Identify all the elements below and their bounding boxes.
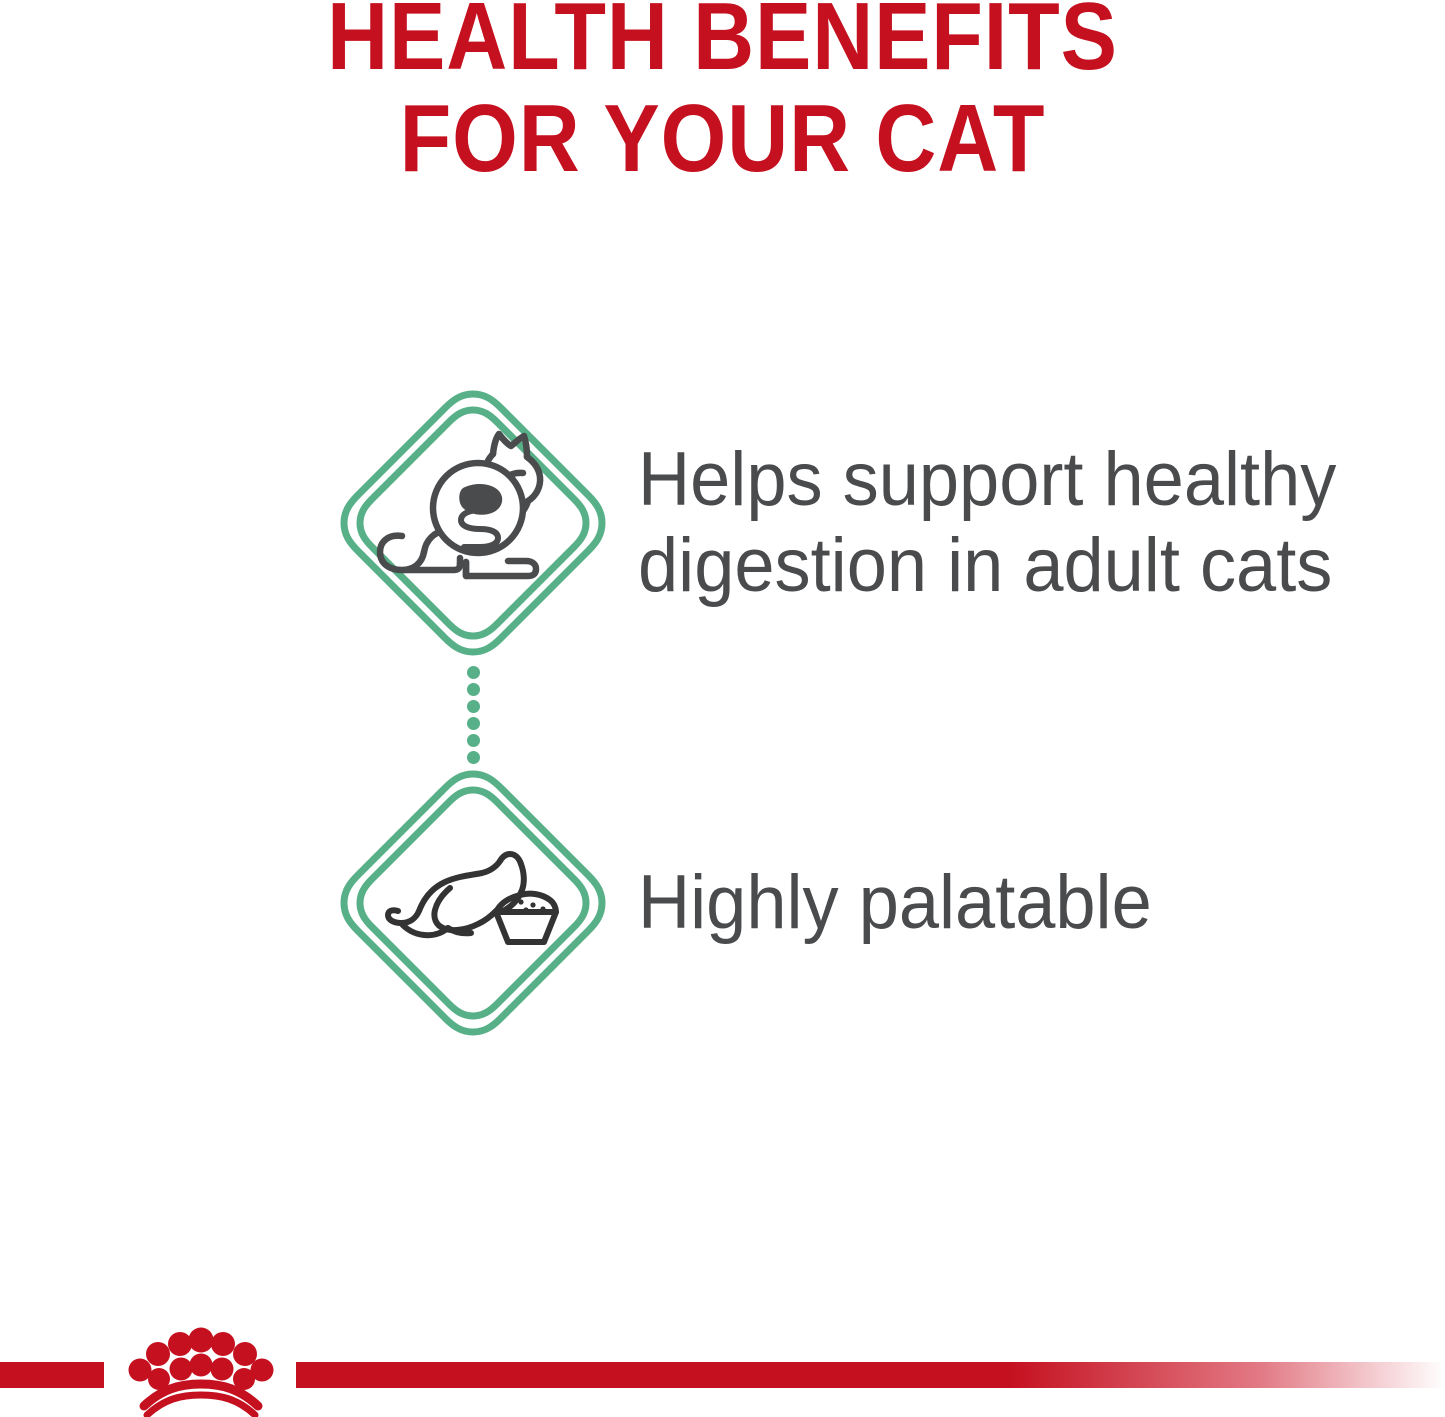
page-title: HEALTH BENEFITS FOR YOUR CAT bbox=[0, 0, 1445, 190]
cat-digestive-health-icon bbox=[330, 380, 616, 666]
cat-eating-bowl-icon bbox=[330, 760, 616, 1046]
dotted-connector bbox=[462, 666, 486, 762]
footer-brand-bar bbox=[0, 1320, 1445, 1417]
title-line-2: FOR YOUR CAT bbox=[87, 88, 1359, 190]
health-benefits-infographic: HEALTH BENEFITS FOR YOUR CAT bbox=[0, 0, 1445, 1417]
benefit-text-digestion: Helps support healthy digestion in adult… bbox=[638, 437, 1381, 609]
connector-dot bbox=[467, 683, 480, 696]
royal-canin-crown-logo bbox=[100, 1320, 300, 1417]
connector-dot bbox=[467, 734, 480, 747]
title-line-1: HEALTH BENEFITS bbox=[87, 0, 1359, 88]
connector-dot bbox=[467, 700, 480, 713]
benefit-row-digestion: Helps support healthy digestion in adult… bbox=[330, 380, 1420, 666]
benefit-text-palatability: Highly palatable bbox=[638, 860, 1152, 946]
connector-dot bbox=[467, 717, 480, 730]
connector-dot bbox=[467, 666, 480, 679]
footer-bar-left bbox=[0, 1362, 104, 1388]
benefit-row-palatability: Highly palatable bbox=[330, 760, 1420, 1046]
footer-bar-right bbox=[296, 1362, 1445, 1388]
